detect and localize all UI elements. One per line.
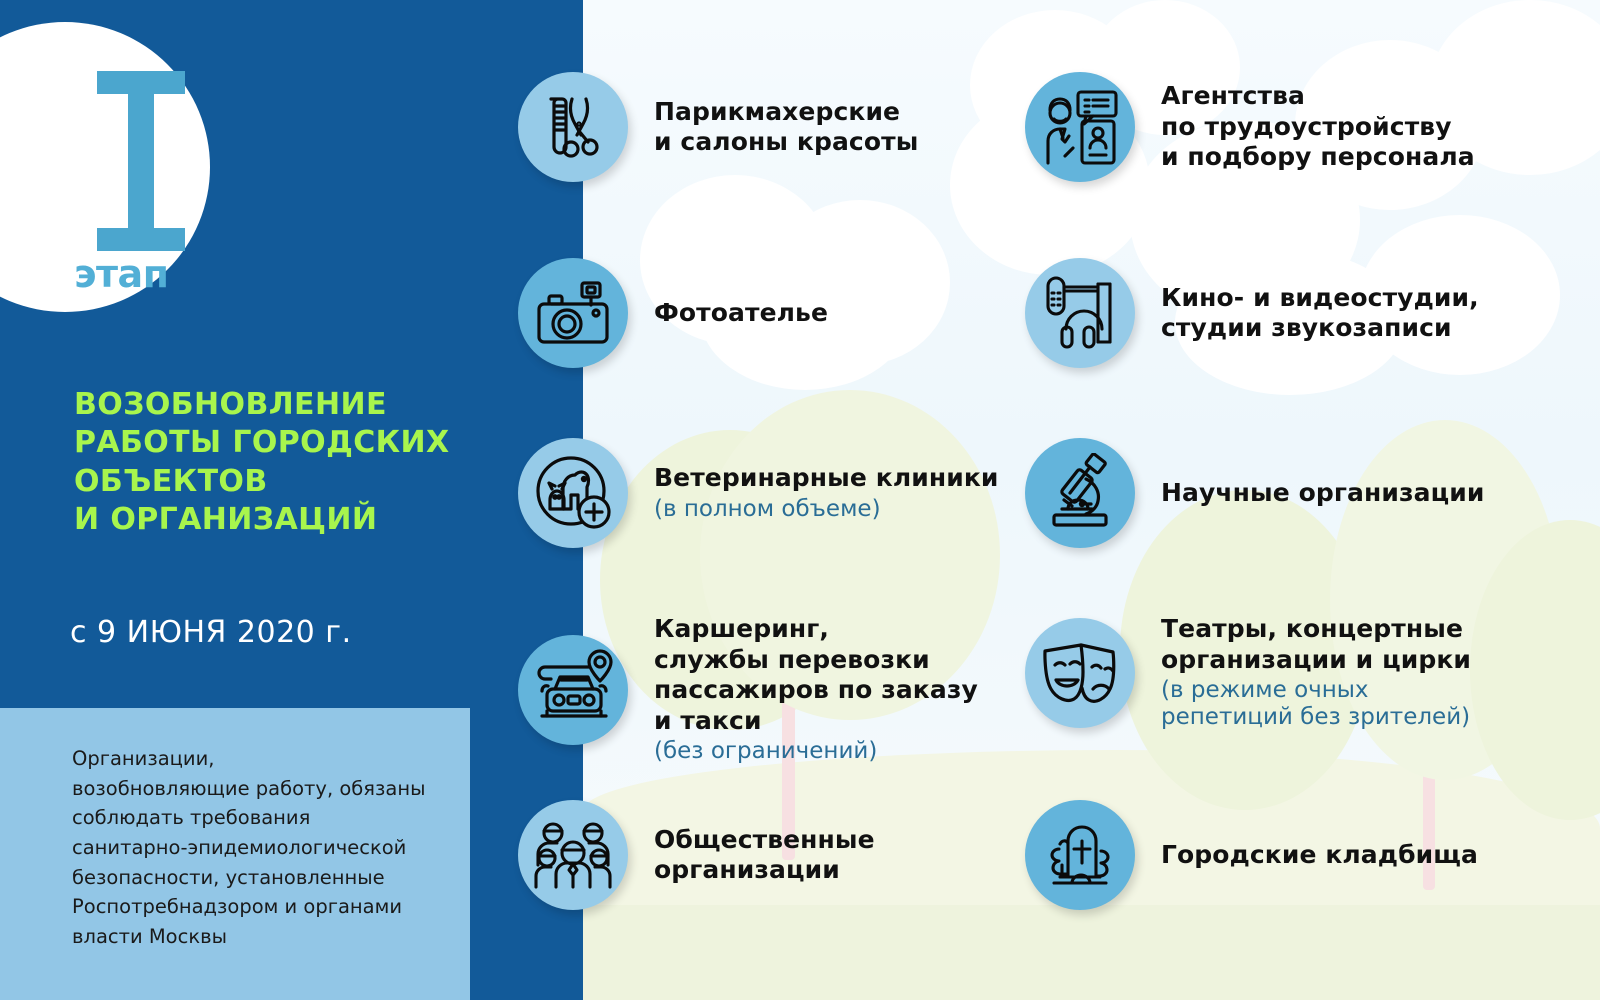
item-subtitle-line: (в полном объеме): [654, 496, 999, 523]
list-item[interactable]: Городские кладбища: [1025, 800, 1478, 910]
item-title-line: Парикмахерские: [654, 97, 918, 128]
item-subtitle: (без ограничений): [654, 738, 978, 765]
list-item[interactable]: Агентства по трудоустройству и подбору п…: [1025, 72, 1475, 182]
stage-numeral-icon: [97, 71, 185, 251]
people-group-icon: [518, 800, 628, 910]
item-title-line: Фотоателье: [654, 298, 828, 329]
disclaimer-line: безопасности, установленные: [72, 863, 457, 893]
item-text: Каршеринг, службы перевозки пассажиров п…: [628, 614, 978, 765]
item-title-line: организации и цирки: [1161, 645, 1471, 676]
item-title-line: и такси: [654, 706, 978, 737]
title-line: РАБОТЫ ГОРОДСКИХ: [74, 424, 544, 462]
item-title-line: и подбору персонала: [1161, 142, 1475, 173]
item-title-line: Агентства: [1161, 81, 1475, 112]
item-title-line: по трудоустройству: [1161, 112, 1475, 143]
infographic-poster: этап ВОЗОБНОВЛЕНИЕ РАБОТЫ ГОРОДСКИХ ОБЪЕ…: [0, 0, 1600, 1000]
disclaimer-line: возобновляющие работу, обязаны: [72, 774, 457, 804]
list-item[interactable]: Ветеринарные клиники (в полном объеме): [518, 438, 999, 548]
item-text: Фотоателье: [628, 298, 828, 329]
recruiter-icon: [1025, 72, 1135, 182]
microphone-headphones-icon: [1025, 258, 1135, 368]
item-subtitle-line: (без ограничений): [654, 738, 978, 765]
list-item[interactable]: Фотоателье: [518, 258, 828, 368]
item-title: Каршеринг, службы перевозки пассажиров п…: [654, 614, 978, 736]
item-title-line: и салоны красоты: [654, 127, 918, 158]
item-title: Городские кладбища: [1161, 840, 1478, 871]
disclaimer-line: Организации,: [72, 744, 457, 774]
item-text: Театры, концертные организации и цирки (…: [1135, 614, 1471, 731]
item-title-line: Кино- и видеостудии,: [1161, 283, 1479, 314]
item-text: Общественные организации: [628, 825, 875, 886]
item-text: Городские кладбища: [1135, 840, 1478, 871]
photo-camera-icon: [518, 258, 628, 368]
item-subtitle: (в режиме очных репетиций без зрителей): [1161, 677, 1471, 731]
theatre-masks-icon: [1025, 618, 1135, 728]
item-title-line: Театры, концертные: [1161, 614, 1471, 645]
title-line: ОБЪЕКТОВ: [74, 463, 544, 501]
left-panel: этап ВОЗОБНОВЛЕНИЕ РАБОТЫ ГОРОДСКИХ ОБЪЕ…: [0, 0, 583, 1000]
item-title-line: Научные организации: [1161, 478, 1484, 509]
item-subtitle-line: (в режиме очных: [1161, 677, 1471, 704]
item-title: Ветеринарные клиники: [654, 463, 999, 494]
disclaimer-line: санитарно-эпидемиологической: [72, 833, 457, 863]
cemetery-icon: [1025, 800, 1135, 910]
list-item[interactable]: Общественные организации: [518, 800, 875, 910]
item-title-line: Общественные: [654, 825, 875, 856]
item-title-line: студии звукозаписи: [1161, 313, 1479, 344]
item-title: Кино- и видеостудии, студии звукозаписи: [1161, 283, 1479, 344]
item-title: Агентства по трудоустройству и подбору п…: [1161, 81, 1475, 173]
item-subtitle: (в полном объеме): [654, 496, 999, 523]
item-text: Кино- и видеостудии, студии звукозаписи: [1135, 283, 1479, 344]
list-item[interactable]: Кино- и видеостудии, студии звукозаписи: [1025, 258, 1479, 368]
disclaimer-text: Организации, возобновляющие работу, обяз…: [72, 744, 457, 951]
item-title: Театры, концертные организации и цирки: [1161, 614, 1471, 675]
effective-date: с 9 ИЮНЯ 2020 г.: [70, 615, 352, 650]
list-item[interactable]: Парикмахерские и салоны красоты: [518, 72, 918, 182]
item-title-line: службы перевозки: [654, 645, 978, 676]
item-text: Агентства по трудоустройству и подбору п…: [1135, 81, 1475, 173]
microscope-icon: [1025, 438, 1135, 548]
car-sharing-icon: [518, 635, 628, 745]
ground-strip: [583, 905, 1600, 1000]
disclaimer-box: Организации, возобновляющие работу, обяз…: [0, 708, 470, 1000]
item-title: Фотоателье: [654, 298, 828, 329]
item-text: Парикмахерские и салоны красоты: [628, 97, 918, 158]
disclaimer-line: соблюдать требования: [72, 803, 457, 833]
item-text: Ветеринарные клиники (в полном объеме): [628, 463, 999, 523]
title-line: ВОЗОБНОВЛЕНИЕ: [74, 386, 544, 424]
item-title: Парикмахерские и салоны красоты: [654, 97, 918, 158]
item-title: Научные организации: [1161, 478, 1484, 509]
item-title: Общественные организации: [654, 825, 875, 886]
item-subtitle-line: репетиций без зрителей): [1161, 704, 1471, 731]
item-title-line: Ветеринарные клиники: [654, 463, 999, 494]
disclaimer-line: власти Москвы: [72, 922, 457, 952]
item-title-line: Каршеринг,: [654, 614, 978, 645]
item-title-line: пассажиров по заказу: [654, 675, 978, 706]
stage-word: этап: [74, 252, 168, 296]
list-item[interactable]: Научные организации: [1025, 438, 1484, 548]
page-title: ВОЗОБНОВЛЕНИЕ РАБОТЫ ГОРОДСКИХ ОБЪЕКТОВ …: [74, 386, 544, 540]
list-item[interactable]: Театры, концертные организации и цирки (…: [1025, 614, 1471, 731]
item-title-line: организации: [654, 855, 875, 886]
item-text: Научные организации: [1135, 478, 1484, 509]
veterinary-pets-icon: [518, 438, 628, 548]
item-title-line: Городские кладбища: [1161, 840, 1478, 871]
list-item[interactable]: Каршеринг, службы перевозки пассажиров п…: [518, 614, 978, 765]
disclaimer-line: Роспотребнадзором и органами: [72, 892, 457, 922]
comb-and-scissors-icon: [518, 72, 628, 182]
title-line: И ОРГАНИЗАЦИЙ: [74, 501, 544, 539]
